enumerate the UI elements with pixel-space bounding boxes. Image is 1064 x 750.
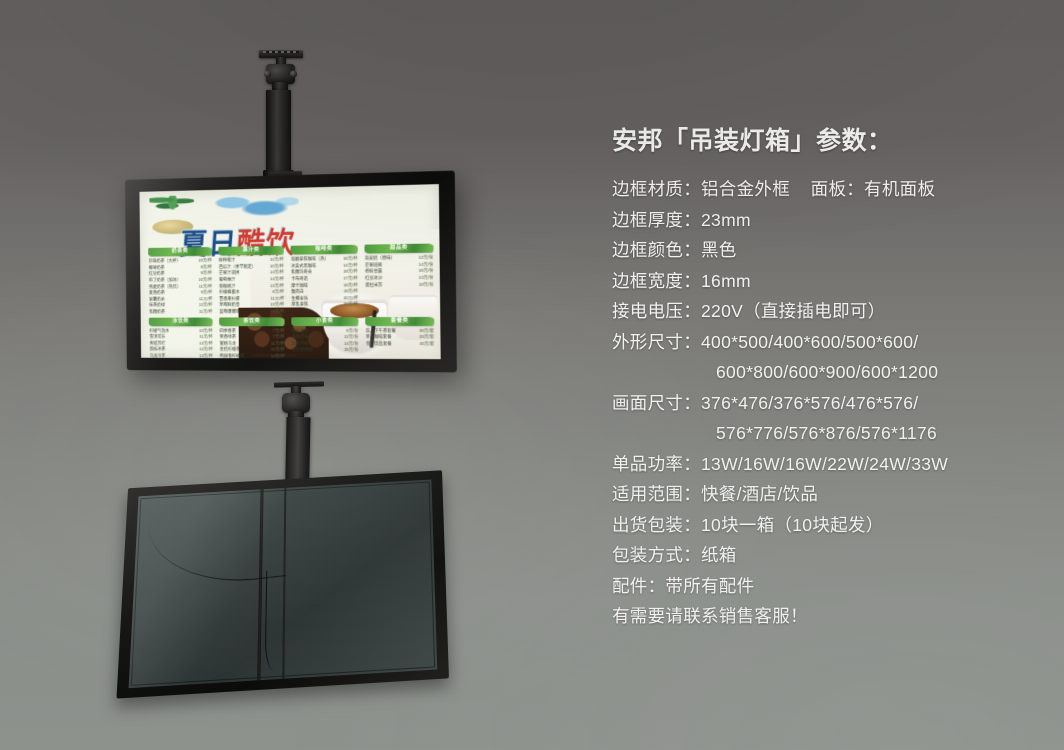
menu-item: 蓝莓爆爆珠13元/杯 bbox=[219, 308, 284, 315]
menu-item-list: 珍珠奶茶（大杯）10元/杯椰果奶茶9元/杯红豆奶茶9元/杯布丁奶茶（加冰）10元… bbox=[149, 258, 213, 316]
spec-line: 边框宽度：16mm bbox=[612, 266, 1048, 297]
menu-category-heading: 甜品类 bbox=[365, 244, 434, 254]
lower-mount-swivel-joint bbox=[282, 393, 310, 413]
floor-lightbox-frame bbox=[117, 470, 449, 698]
menu-category-heading-label: 果汁类 bbox=[219, 246, 284, 256]
menu-category: 果汁类鲜榨橙汁12元/杯西瓜汁（季节限定）10元/杯芒果汁双拼13元/杯葡萄柚汁… bbox=[219, 246, 285, 315]
lightbox-aluminium-frame: 夏日酷饮 奶茶类珍珠奶茶（大杯）10元/杯椰果奶茶9元/杯红豆奶茶9元/杯布丁奶… bbox=[125, 171, 457, 373]
menu-category: 奶茶类珍珠奶茶（大杯）10元/杯椰果奶茶9元/杯红豆奶茶9元/杯布丁奶茶（加冰）… bbox=[149, 247, 213, 315]
menu-item-list: 鲜榨橙汁12元/杯西瓜汁（季节限定）10元/杯芒果汁双拼13元/杯葡萄柚汁14元… bbox=[219, 257, 285, 315]
menu-item-name: 鸭屎香柠檬茶 bbox=[220, 353, 245, 359]
menu-category-heading-label: 茶饮类 bbox=[219, 317, 284, 326]
spec-line: 接电电压：220V（直接插电即可） bbox=[612, 296, 1048, 327]
spec-line: 边框材质：铝合金外框 面板：有机面板 bbox=[612, 174, 1048, 205]
menu-item-list: 黄金薯条9元/份香酥鸡米花12元/份脆皮鸡排14元/份奥尔良烤翅15元/份 bbox=[292, 328, 359, 354]
swivel-bolt-left bbox=[264, 71, 271, 78]
spec-line: 外形尺寸：400*500/400*600/500*600/ bbox=[612, 327, 1048, 358]
spec-line: 配件：带所有配件 bbox=[612, 571, 1048, 602]
backplate-seam-left bbox=[257, 489, 263, 680]
menu-category-heading: 奶茶类 bbox=[149, 247, 212, 257]
menu-item-name: 厚乳拿铁 bbox=[291, 302, 308, 309]
spec-panel: 安邦「吊装灯箱」参数： 边框材质：铝合金外框 面板：有机面板边框厚度：23mm边… bbox=[612, 126, 1048, 632]
menu-category-heading: 套餐类 bbox=[365, 317, 434, 326]
menu-category-heading: 咖啡类 bbox=[291, 245, 358, 255]
water-splash-illustration bbox=[209, 193, 299, 230]
menu-item: 提拉米苏18元/份 bbox=[365, 281, 434, 288]
ceiling-mount-swivel-joint bbox=[266, 64, 295, 84]
spec-line: 出货包装：10块一箱（10块起发） bbox=[612, 510, 1048, 541]
spec-line: 576*776/576*876/576*1176 bbox=[612, 418, 1048, 449]
spec-line: 有需要请联系销售客服！ bbox=[612, 601, 1048, 632]
menu-category-heading-label: 甜品类 bbox=[365, 244, 434, 254]
spec-line-list: 边框材质：铝合金外框 面板：有机面板边框厚度：23mm边框颜色：黑色边框宽度：1… bbox=[612, 174, 1048, 632]
menu-category: 冰饮类柠檬气泡水10元/杯雪顶可乐11元/杯青提苏打12元/杯荔枝冰茶12元/杯… bbox=[149, 317, 213, 359]
menu-category-heading-label: 咖啡类 bbox=[291, 245, 358, 255]
menu-item-list: 双皮奶（原味）12元/份芒果班戟14元/份杨枝甘露16元/份红豆冰沙13元/份提… bbox=[365, 255, 434, 289]
poster-footer-url: www.anbang-lightbox.com bbox=[251, 352, 295, 357]
spec-line: 适用范围：快餐/酒店/饮品 bbox=[612, 479, 1048, 510]
spec-panel-title: 安邦「吊装灯箱」参数： bbox=[612, 126, 1048, 157]
power-cable-tail bbox=[265, 569, 298, 672]
menu-item-price: 13元/杯 bbox=[267, 308, 284, 315]
menu-item-price: 45元/套 bbox=[416, 341, 434, 348]
menu-item-name: 焦糖奶茶 bbox=[149, 309, 165, 315]
spec-line: 画面尺寸：376*476/376*576/476*576/ bbox=[612, 388, 1048, 419]
floor-lightbox-backplate bbox=[129, 479, 438, 688]
menu-category-heading: 冰饮类 bbox=[149, 317, 212, 326]
hanging-lightbox-front[interactable]: 夏日酷饮 奶茶类珍珠奶茶（大杯）10元/杯椰果奶茶9元/杯红豆奶茶9元/杯布丁奶… bbox=[125, 171, 457, 373]
menu-category: 甜品类双皮奶（原味）12元/份芒果班戟14元/份杨枝甘露16元/份红豆冰沙13元… bbox=[365, 244, 434, 315]
menu-poster: 夏日酷饮 奶茶类珍珠奶茶（大杯）10元/杯椰果奶茶9元/杯红豆奶茶9元/杯布丁奶… bbox=[139, 184, 440, 359]
menu-item-price: 20元/杯 bbox=[341, 302, 358, 309]
menu-category: 小食类黄金薯条9元/份香酥鸡米花12元/份脆皮鸡排14元/份奥尔良烤翅15元/份 bbox=[291, 317, 358, 359]
menu-category-grid: 奶茶类珍珠奶茶（大杯）10元/杯椰果奶茶9元/杯红豆奶茶9元/杯布丁奶茶（加冰）… bbox=[149, 244, 435, 354]
menu-item: 亲子饮品套餐45元/套 bbox=[366, 341, 435, 348]
menu-category-heading: 小食类 bbox=[291, 317, 358, 326]
menu-item-name: 提拉米苏 bbox=[365, 282, 382, 289]
power-cable bbox=[148, 490, 287, 591]
menu-category-heading-label: 奶茶类 bbox=[149, 247, 212, 257]
menu-category: 套餐类双人下午茶套餐38元/套单人咖啡套餐25元/套亲子饮品套餐45元/套 bbox=[365, 317, 434, 360]
menu-item-name: 蓝莓爆爆珠 bbox=[219, 309, 239, 315]
menu-item-name: 乌龙冷萃 bbox=[150, 353, 166, 359]
spec-line: 边框颜色：黑色 bbox=[612, 235, 1048, 266]
menu-category: 咖啡类现磨拿铁咖啡（热）16元/杯冰美式黑咖啡14元/杯焦糖玛奇朵18元/杯卡布… bbox=[291, 245, 358, 315]
spec-line: 单品功率：13W/16W/16W/22W/24W/33W bbox=[612, 449, 1048, 480]
menu-item-price: 11元/杯 bbox=[196, 309, 212, 315]
menu-item-price: 18元/份 bbox=[416, 281, 434, 288]
product-photo-canvas: 夏日酷饮 奶茶类珍珠奶茶（大杯）10元/杯椰果奶茶9元/杯红豆奶茶9元/杯布丁奶… bbox=[0, 0, 1064, 750]
menu-item-price: 13元/杯 bbox=[196, 353, 213, 359]
menu-item: 奥尔良烤翅15元/份 bbox=[292, 347, 359, 354]
spec-line: 边框厚度：23mm bbox=[612, 205, 1048, 236]
menu-item-price: 15元/份 bbox=[341, 347, 358, 354]
menu-category-heading: 果汁类 bbox=[219, 246, 284, 256]
menu-item-list: 现磨拿铁咖啡（热）16元/杯冰美式黑咖啡14元/杯焦糖玛奇朵18元/杯卡布奇诺1… bbox=[291, 256, 358, 309]
menu-category-heading: 茶饮类 bbox=[219, 317, 284, 326]
menu-category-heading-label: 冰饮类 bbox=[149, 317, 212, 326]
mount-plate-slots bbox=[263, 51, 299, 53]
spec-line: 包装方式：纸箱 bbox=[612, 540, 1048, 571]
ceiling-mount-drop-tube bbox=[266, 90, 291, 176]
backplate-inner-rail bbox=[131, 482, 435, 686]
menu-category-heading-label: 小食类 bbox=[291, 317, 358, 326]
menu-item: 厚乳拿铁20元/杯 bbox=[291, 302, 358, 309]
floor-lightbox-rear[interactable] bbox=[117, 470, 449, 698]
menu-item-name: 亲子饮品套餐 bbox=[366, 341, 392, 348]
menu-category-heading-label: 套餐类 bbox=[365, 317, 434, 326]
menu-item: 乌龙冷萃13元/杯 bbox=[150, 353, 213, 359]
spec-line: 600*800/600*900/600*1200 bbox=[612, 357, 1048, 388]
palm-tree-illustration bbox=[149, 195, 194, 221]
swivel-bolt-right bbox=[290, 71, 297, 78]
menu-item: 焦糖奶茶11元/杯 bbox=[149, 309, 212, 316]
menu-item-list: 双人下午茶套餐38元/套单人咖啡套餐25元/套亲子饮品套餐45元/套 bbox=[366, 328, 435, 348]
backplate-seam-right bbox=[282, 488, 286, 679]
menu-item-list: 柠檬气泡水10元/杯雪顶可乐11元/杯青提苏打12元/杯荔枝冰茶12元/杯乌龙冷… bbox=[149, 328, 213, 359]
